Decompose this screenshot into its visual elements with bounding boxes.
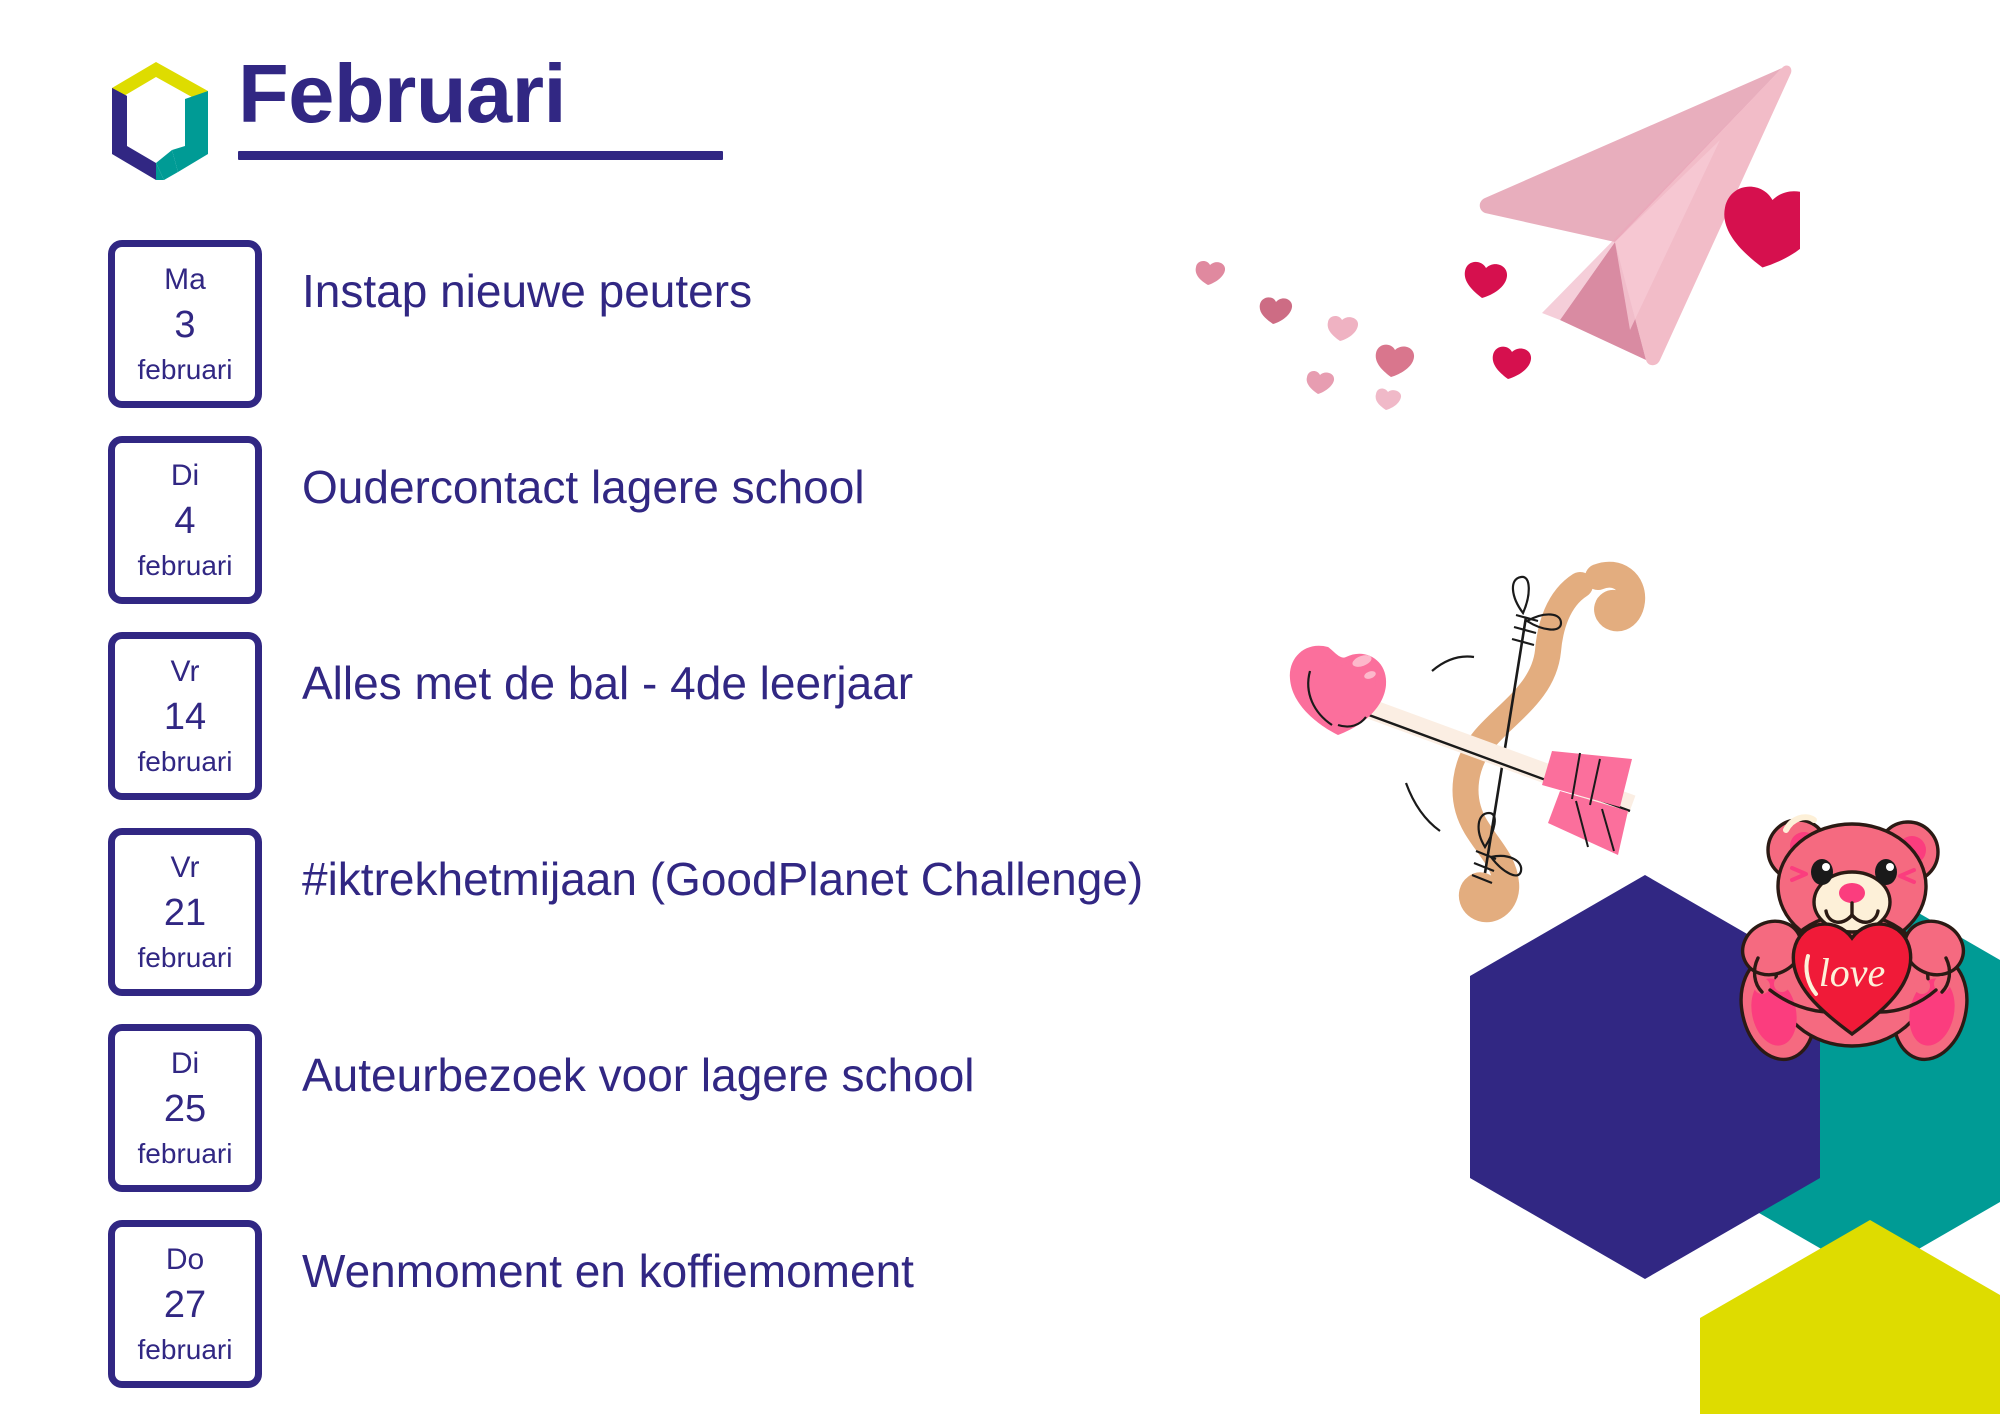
paper-plane-with-hearts-illustration [1160,30,1800,420]
cupid-bow-and-heart-arrow-illustration [1280,555,1730,965]
date-chip: Vr 21 februari [108,828,262,996]
date-day: 14 [164,693,206,742]
agenda-row: Vr 14 februari Alles met de bal - 4de le… [108,632,1248,800]
date-day: 27 [164,1281,206,1330]
paper-plane-icon [1480,66,1792,366]
arrow-fletching [1542,751,1632,855]
date-month: februari [138,1332,233,1368]
date-weekday: Vr [171,653,200,691]
heart-love-label: love [1819,950,1886,995]
love-heart-icon: love [1793,924,1910,1034]
date-day: 21 [164,889,206,938]
date-month: februari [138,1136,233,1172]
date-chip: Ma 3 februari [108,240,262,408]
bow-string-knot-top [1512,577,1561,645]
agenda-row: Di 25 februari Auteurbezoek voor lagere … [108,1024,1248,1192]
date-day: 25 [164,1085,206,1134]
date-month: februari [138,352,233,388]
date-weekday: Di [171,1045,199,1083]
heart-icon [1724,187,1800,268]
hexagon-q-logo [100,60,212,182]
agenda-row: Do 27 februari Wenmoment en koffiemoment [108,1220,1248,1388]
date-month: februari [138,744,233,780]
event-title: Auteurbezoek voor lagere school [302,1050,975,1101]
date-weekday: Vr [171,849,200,887]
date-day: 3 [174,301,195,350]
event-title: Wenmoment en koffiemoment [302,1246,914,1297]
date-month: februari [138,548,233,584]
title-underline [238,151,723,160]
date-chip: Vr 14 februari [108,632,262,800]
bow-string-knot-bottom [1472,813,1521,883]
date-chip: Do 27 februari [108,1220,262,1388]
date-weekday: Di [171,457,199,495]
hexagon-corner-decoration [1420,850,2000,1414]
date-chip: Di 4 februari [108,436,262,604]
title-block: Februari [238,52,723,160]
event-title: Oudercontact lagere school [302,462,865,513]
agenda-row: Vr 21 februari #iktrekhetmijaan (GoodPla… [108,828,1248,996]
teddy-bear-with-love-heart-illustration: love [1700,790,2000,1080]
event-title: #iktrekhetmijaan (GoodPlanet Challenge) [302,854,1143,905]
page-title: Februari [238,52,723,135]
event-title: Alles met de bal - 4de leerjaar [302,658,913,709]
agenda-row: Di 4 februari Oudercontact lagere school [108,436,1248,604]
date-month: februari [138,940,233,976]
heart-arrow-head [1290,646,1386,735]
date-weekday: Ma [164,261,206,299]
agenda-row: Ma 3 februari Instap nieuwe peuters [108,240,1248,408]
event-title: Instap nieuwe peuters [302,266,752,317]
agenda-list: Ma 3 februari Instap nieuwe peuters Di 4… [108,240,1248,1414]
date-day: 4 [174,497,195,546]
date-weekday: Do [166,1241,204,1279]
page-header: Februari [100,52,723,182]
calendar-poster: Februari Ma 3 februari Instap nieuwe peu… [0,0,2000,1414]
date-chip: Di 25 februari [108,1024,262,1192]
